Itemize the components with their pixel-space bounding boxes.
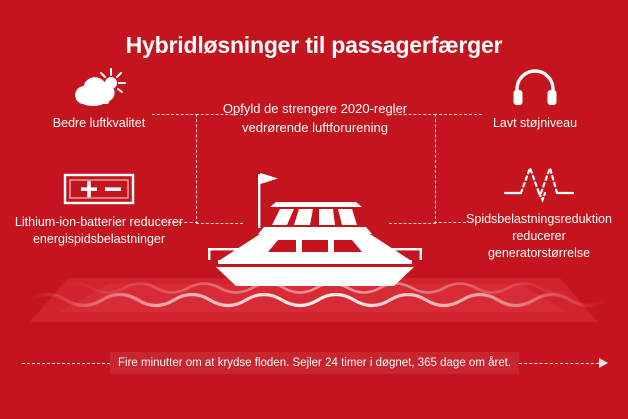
battery-icon [8, 165, 190, 207]
footer-dash-right [519, 363, 599, 364]
footer-caption: Fire minutter om at krydse floden. Sejle… [110, 352, 519, 374]
feature-peak-shaving: Spidsbelastningsreduktion reducerer gene… [460, 162, 618, 262]
feature-label-battery: Lithium-ion-batterier reducerer energisp… [8, 214, 190, 248]
center-message: Opfyld de strengere 2020-regler vedrøren… [219, 99, 411, 137]
passenger-ferry-icon [204, 168, 426, 290]
waveform-peak-icon [460, 162, 618, 204]
footer-caption-row: Fire minutter om at krydse floden. Sejle… [0, 352, 628, 374]
headphones-icon [452, 66, 618, 108]
feature-label-noise: Lavt støjniveau [452, 115, 618, 132]
feature-air-quality: Bedre luftkvalitet [14, 66, 184, 132]
page-title: Hybridløsninger til passagerfærger [0, 31, 628, 59]
feature-label-peak-shaving: Spidsbelastningsreduktion reducerer gene… [460, 211, 618, 262]
infographic-canvas: Hybridløsninger til passagerfærger Opfyl… [0, 0, 628, 419]
footer-dash-left [22, 363, 110, 364]
arrow-right-icon [599, 358, 608, 368]
feature-noise: Lavt støjniveau [452, 66, 618, 132]
feature-label-air-quality: Bedre luftkvalitet [14, 115, 184, 132]
cloud-sun-icon [14, 66, 184, 108]
feature-battery: Lithium-ion-batterier reducerer energisp… [8, 165, 190, 248]
